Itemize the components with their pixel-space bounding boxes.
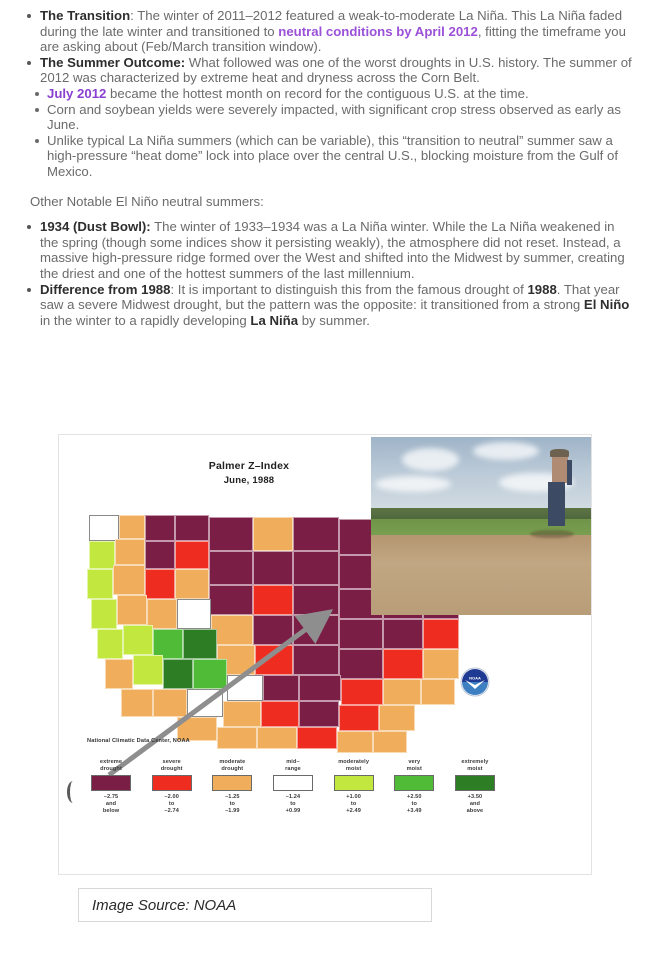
- farmer-torso: [552, 457, 567, 484]
- map-region-cell: [257, 727, 297, 749]
- bullet-lead: The Summer Outcome:: [40, 55, 185, 70]
- image-source-caption-box: Image Source: NOAA: [78, 888, 432, 922]
- photo-dry-soil: [371, 535, 592, 615]
- map-region-cell: [105, 659, 133, 689]
- map-region-cell: [209, 551, 253, 585]
- bullet-lead: Difference from 1988: [40, 282, 170, 297]
- map-region-cell: [187, 689, 223, 717]
- map-subtitle-text: June, 1988: [224, 475, 275, 486]
- map-region-cell: [145, 541, 175, 569]
- nested-bullet-corn-soybean: Corn and soybean yields were severely im…: [30, 102, 636, 133]
- legend-item: extremelymoist+3.50andabove: [447, 759, 503, 815]
- map-region-cell: [133, 655, 163, 685]
- map-region-cell: [123, 625, 153, 655]
- nested-bullet-text: Unlike typical La Niña summers (which ca…: [47, 133, 618, 179]
- map-region-cell: [121, 689, 153, 717]
- map-region-cell: [299, 675, 341, 701]
- bullet-the-summer-outcome: The Summer Outcome: What followed was on…: [22, 55, 636, 86]
- map-region-cell: [421, 679, 455, 705]
- map-region-cell: [223, 701, 261, 727]
- bullet-lead: 1934 (Dust Bowl):: [40, 219, 151, 234]
- article-body: The Transition: The winter of 2011–2012 …: [0, 0, 654, 328]
- legend-range: –1.25to–1.99: [204, 794, 260, 815]
- map-region-cell: [119, 515, 145, 539]
- map-region-cell: [87, 569, 113, 599]
- map-region-cell: [423, 619, 459, 649]
- legend-swatch: [152, 775, 192, 791]
- map-region-cell: [227, 675, 263, 701]
- svg-text:NOAA: NOAA: [469, 676, 481, 681]
- map-region-cell: [337, 731, 373, 753]
- map-region-cell: [293, 551, 339, 585]
- farmer-arm: [567, 460, 572, 485]
- legend-label: mid–range: [265, 759, 321, 773]
- map-region-cell: [293, 645, 339, 675]
- legend-swatch: [334, 775, 374, 791]
- legend-item: moderatedrought–1.25to–1.99: [204, 759, 260, 815]
- map-region-cell: [209, 517, 253, 551]
- legend-range: –1.24to+0.99: [265, 794, 321, 815]
- map-region-cell: [339, 649, 383, 679]
- legend-swatch: [394, 775, 434, 791]
- map-region-cell: [175, 569, 209, 599]
- map-region-cell: [145, 569, 175, 599]
- map-region-cell: [383, 649, 423, 679]
- legend-range: –2.75andbelow: [83, 794, 139, 815]
- map-region-cell: [261, 701, 299, 727]
- map-region-cell: [253, 615, 293, 645]
- legend-label: severedrought: [144, 759, 200, 773]
- bullet-difference-from-1988: Difference from 1988: It is important to…: [22, 282, 636, 329]
- legend-left-cap-icon: [67, 781, 79, 803]
- nested-bullet-text: became the hottest month on record for t…: [106, 86, 528, 101]
- bullet-list-primary: The Transition: The winter of 2011–2012 …: [18, 8, 636, 86]
- nested-bullet-heat-dome: Unlike typical La Niña summers (which ca…: [30, 133, 636, 180]
- legend-item: severedrought–2.00to–2.74: [144, 759, 200, 815]
- map-region-cell: [297, 727, 337, 749]
- drought-field-photo: [371, 437, 592, 615]
- legend-item: extremedrought–2.75andbelow: [83, 759, 139, 815]
- legend-range: +3.50andabove: [447, 794, 503, 815]
- map-region-cell: [339, 619, 383, 649]
- map-region-cell: [91, 599, 117, 629]
- map-region-cell: [217, 727, 257, 749]
- nested-bullet-july-2012: July 2012 became the hottest month on re…: [30, 86, 636, 102]
- map-credit: National Climatic Data Center, NOAA: [87, 738, 190, 744]
- farmer-legs: [548, 482, 566, 527]
- map-region-cell: [115, 539, 145, 565]
- cloud-icon: [473, 442, 539, 460]
- nested-bullet-accent-lead: July 2012: [47, 86, 106, 101]
- map-region-cell: [253, 585, 293, 615]
- legend-label: extremedrought: [83, 759, 139, 773]
- map-region-cell: [177, 599, 211, 629]
- section-note-other-summers: Other Notable El Niño neutral summers:: [30, 194, 636, 210]
- bullet-list-nested: July 2012 became the hottest month on re…: [18, 86, 636, 180]
- map-region-cell: [253, 551, 293, 585]
- legend-item: moderatelymoist+1.00to+2.49: [326, 759, 382, 815]
- legend-swatch: [455, 775, 495, 791]
- nested-bullet-text: Corn and soybean yields were severely im…: [47, 102, 621, 133]
- bullet-text-p3: in the winter to a rapidly developing: [40, 313, 250, 328]
- map-region-cell: [113, 565, 145, 595]
- map-region-cell: [209, 585, 253, 615]
- map-legend: extremedrought–2.75andbelowseveredrought…: [83, 759, 503, 815]
- map-region-cell: [211, 615, 253, 645]
- map-region-cell: [89, 515, 119, 541]
- map-region-cell: [253, 517, 293, 551]
- cloud-icon: [402, 448, 459, 471]
- map-region-cell: [299, 701, 339, 727]
- legend-swatch: [273, 775, 313, 791]
- bullet-text-p4: by summer.: [298, 313, 370, 328]
- map-region-cell: [379, 705, 415, 731]
- map-region-cell: [293, 585, 339, 615]
- map-region-cell: [293, 615, 339, 645]
- noaa-logo-icon: NOAA: [460, 667, 490, 697]
- bullet-accent-phrase: neutral conditions by April 2012: [278, 24, 478, 39]
- figure-container: Palmer Z–Index June, 1988: [58, 434, 592, 875]
- bullet-1934-dust-bowl: 1934 (Dust Bowl): The winter of 1933–193…: [22, 219, 636, 281]
- map-region-cell: [153, 689, 187, 717]
- legend-range: –2.00to–2.74: [144, 794, 200, 815]
- bullet-lead: The Transition: [40, 8, 130, 23]
- legend-label: extremelymoist: [447, 759, 503, 773]
- map-stage: Palmer Z–Index June, 1988: [59, 435, 592, 875]
- legend-swatch: [91, 775, 131, 791]
- bullet-bold-la-nina: La Niña: [250, 313, 298, 328]
- map-region-cell: [341, 679, 383, 705]
- map-region-cell: [145, 515, 175, 541]
- legend-item: verymoist+2.50to+3.49: [386, 759, 442, 815]
- legend-item: mid–range–1.24to+0.99: [265, 759, 321, 815]
- legend-label: moderatelymoist: [326, 759, 382, 773]
- legend-label: moderatedrought: [204, 759, 260, 773]
- legend-range: +1.00to+2.49: [326, 794, 382, 815]
- map-region-cell: [175, 541, 209, 569]
- map-title-text: Palmer Z–Index: [209, 460, 289, 472]
- map-region-cell: [423, 649, 459, 679]
- cloud-icon: [375, 476, 450, 492]
- map-region-cell: [255, 645, 293, 675]
- map-region-cell: [175, 515, 209, 541]
- legend-swatch: [212, 775, 252, 791]
- map-region-cell: [383, 619, 423, 649]
- map-region-cell: [117, 595, 147, 625]
- legend-range: +2.50to+3.49: [386, 794, 442, 815]
- map-region-cell: [193, 659, 227, 689]
- bullet-text-p1: : It is important to distinguish this fr…: [170, 282, 527, 297]
- map-region-cell: [373, 731, 407, 753]
- map-region-cell: [339, 705, 379, 731]
- map-region-cell: [263, 675, 299, 701]
- map-region-cell: [383, 679, 421, 705]
- map-region-cell: [163, 659, 193, 689]
- bullet-the-transition: The Transition: The winter of 2011–2012 …: [22, 8, 636, 55]
- map-region-cell: [89, 541, 115, 569]
- map-region-cell: [97, 629, 123, 659]
- bullet-bold-1988: 1988: [527, 282, 556, 297]
- bullet-list-secondary: 1934 (Dust Bowl): The winter of 1933–193…: [18, 219, 636, 328]
- map-region-cell: [183, 629, 217, 659]
- map-region-cell: [293, 517, 339, 551]
- farmer-hat: [550, 449, 569, 456]
- image-source-caption-text: Image Source: NOAA: [92, 897, 236, 914]
- bullet-bold-el-nino: El Niño: [584, 297, 629, 312]
- legend-label: verymoist: [386, 759, 442, 773]
